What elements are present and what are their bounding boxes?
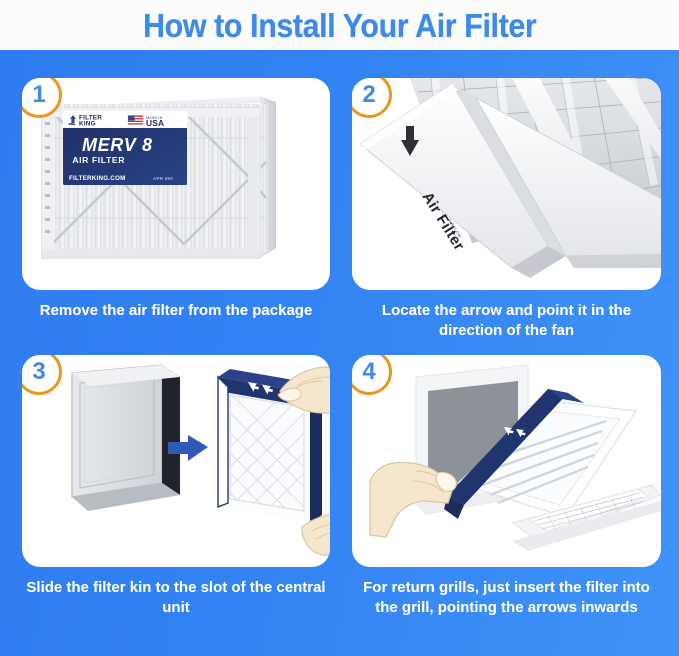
svg-text:AIR FILTER: AIR FILTER bbox=[72, 155, 125, 165]
usa-flag-icon bbox=[128, 116, 143, 125]
svg-text:KING: KING bbox=[79, 121, 96, 128]
infographic-poster: How to Install Your Air Filter 1 bbox=[0, 0, 679, 656]
steps-grid: 1 bbox=[0, 50, 679, 656]
page-title: How to Install Your Air Filter bbox=[143, 9, 536, 42]
step-panel-4: 4 bbox=[352, 355, 661, 619]
svg-text:USA: USA bbox=[146, 118, 164, 128]
step-caption-2: Locate the arrow and point it in the dir… bbox=[352, 301, 661, 342]
step-card-1: 1 bbox=[22, 78, 330, 290]
svg-text:APR 650: APR 650 bbox=[153, 176, 173, 181]
svg-text:MERV 8: MERV 8 bbox=[82, 135, 153, 155]
step-card-2: 2 bbox=[352, 78, 661, 290]
hands-sliding-filter-into-slot bbox=[22, 355, 330, 567]
step-caption-4: For return grills, just insert the filte… bbox=[352, 578, 661, 619]
step-card-4: 4 bbox=[352, 355, 661, 567]
step-card-3: 3 bbox=[22, 355, 330, 567]
step-panel-3: 3 bbox=[22, 355, 330, 619]
boxed-air-filter-photo: FILTER KING MADE IN USA bbox=[22, 78, 330, 290]
hand-holding-grill bbox=[370, 462, 456, 537]
step-panel-1: 1 bbox=[22, 78, 330, 321]
step-caption-3: Slide the filter kin to the slot of the … bbox=[22, 578, 330, 619]
svg-text:FILTERKING.COM: FILTERKING.COM bbox=[69, 175, 126, 182]
step-panel-2: 2 bbox=[352, 78, 661, 342]
filter-corner-with-airflow-arrow: Air Filter AIRFLOW bbox=[352, 78, 661, 290]
step-caption-1: Remove the air filter from the package bbox=[22, 301, 330, 321]
header-bar: How to Install Your Air Filter bbox=[0, 0, 679, 50]
hand-inserting-filter-into-return-grill bbox=[352, 355, 661, 567]
